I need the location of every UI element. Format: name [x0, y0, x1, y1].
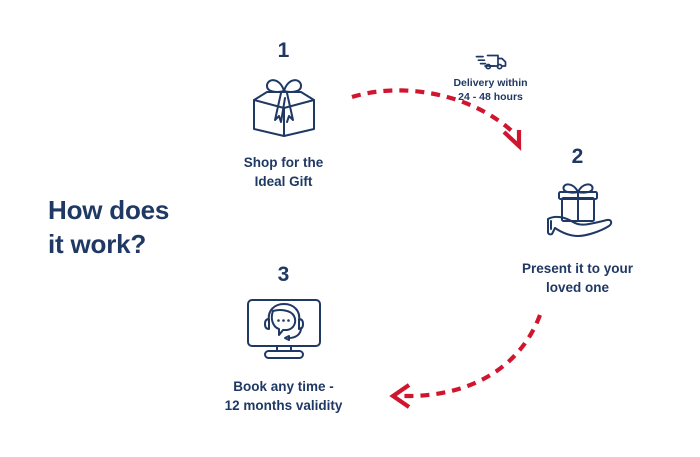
arrow-step2-to-step3 [393, 315, 540, 407]
delivery-truck-icon [432, 50, 549, 74]
monitor-support-icon [196, 291, 371, 367]
step-3-caption-line-1: Book any time - [196, 377, 371, 396]
delivery-note-line-2: 24 - 48 hours [432, 91, 549, 105]
step-1-caption-line-2: Ideal Gift [196, 172, 371, 191]
gift-on-hand-icon [490, 173, 665, 249]
step-1-caption: Shop for the Ideal Gift [196, 153, 371, 191]
page-title: How does it work? [48, 193, 278, 262]
step-1-number: 1 [196, 40, 371, 61]
step-3-number: 3 [196, 264, 371, 285]
step-2-number: 2 [490, 146, 665, 167]
step-3-caption-line-2: 12 months validity [196, 396, 371, 415]
step-1: 1 Shop for the [196, 40, 371, 191]
page-title-line-1: How does [48, 193, 278, 227]
step-2-caption-line-2: loved one [490, 278, 665, 297]
step-2: 2 [490, 146, 665, 297]
step-2-caption-line-1: Present it to your [490, 259, 665, 278]
delivery-note: Delivery within 24 - 48 hours [432, 50, 549, 105]
step-3: 3 [196, 264, 371, 415]
step-2-caption: Present it to your loved one [490, 259, 665, 297]
step-3-caption: Book any time - 12 months validity [196, 377, 371, 415]
gift-box-icon [196, 67, 371, 143]
delivery-note-line-1: Delivery within [432, 77, 549, 91]
how-it-works-infographic: How does it work? [0, 0, 700, 457]
step-1-caption-line-1: Shop for the [196, 153, 371, 172]
page-title-line-2: it work? [48, 227, 278, 261]
delivery-note-text: Delivery within 24 - 48 hours [432, 77, 549, 105]
